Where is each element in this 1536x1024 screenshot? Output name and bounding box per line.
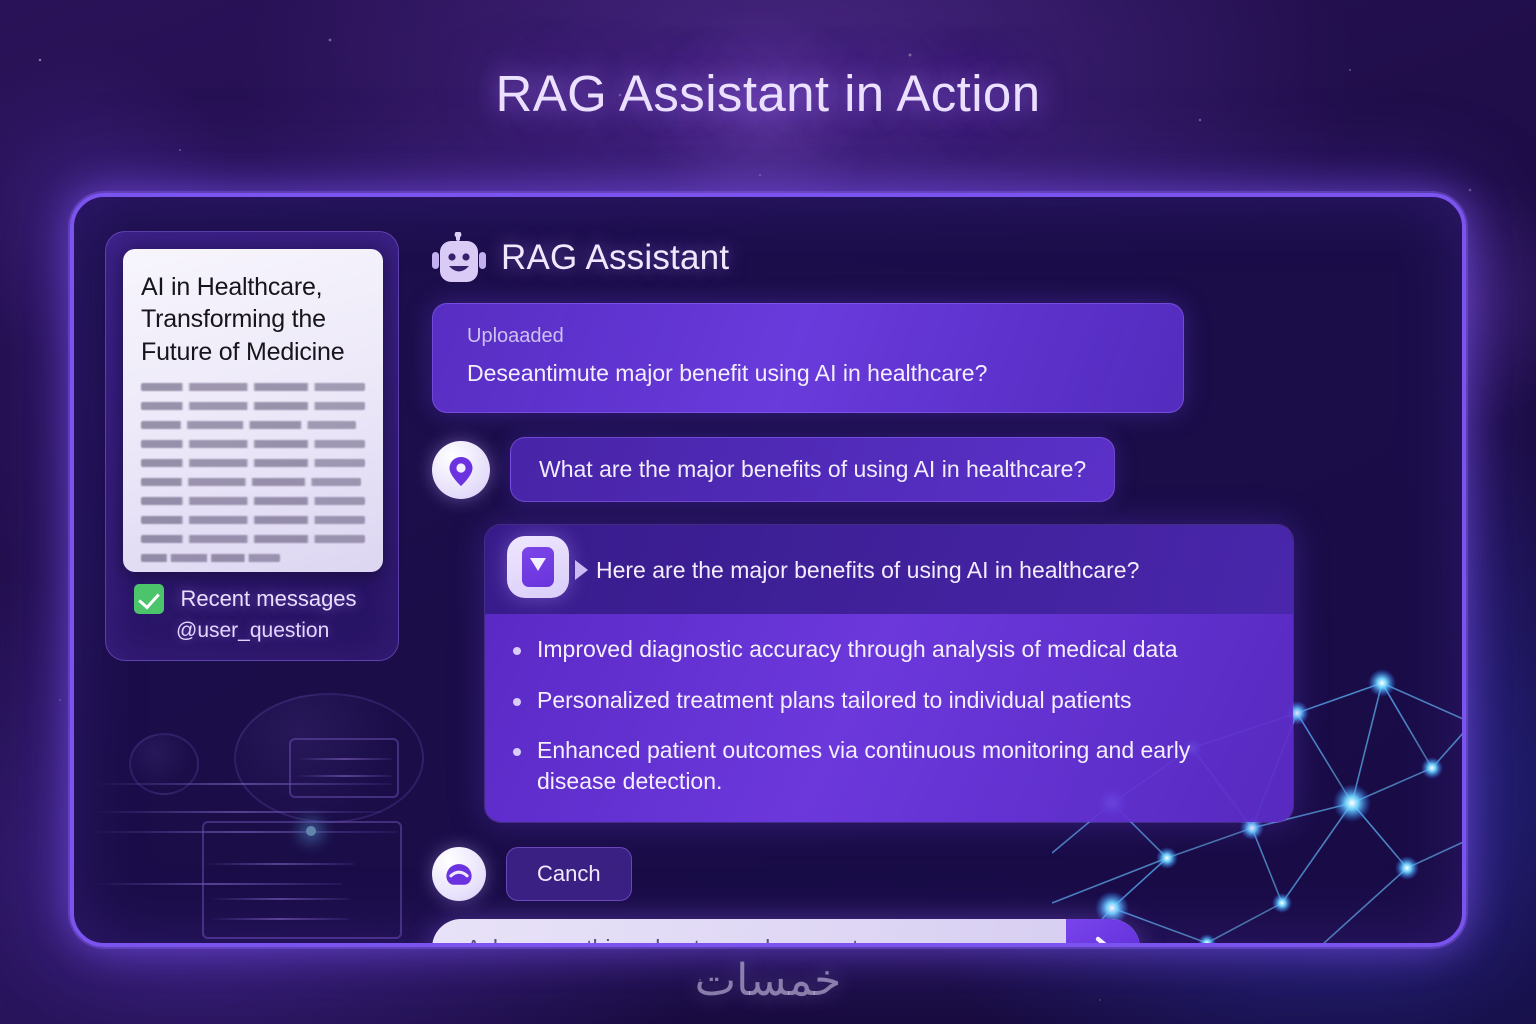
app-window: AI in Healthcare, Transforming the Futur… (70, 193, 1466, 947)
chat-input-bar[interactable] (432, 919, 1140, 947)
assistant-response-header: Here are the major benefits of using AI … (485, 525, 1293, 614)
screenshot-root: RAG Assistant in Action (0, 0, 1536, 1024)
action-row: Canch (432, 847, 1432, 901)
triangle-down-icon (530, 558, 546, 571)
assistant-response-body: Improved diagnostic accuracy through ana… (485, 614, 1293, 822)
triangle-right-icon (575, 560, 588, 580)
assistant-title: RAG Assistant (501, 238, 729, 278)
assistant-response-headline: Here are the major benefits of using AI … (596, 557, 1139, 584)
uploaded-question: Deseantimute major benefit using AI in h… (467, 360, 1149, 387)
assistant-avatar-icon (432, 847, 486, 901)
bullet-text: Personalized treatment plans tailored to… (537, 685, 1132, 716)
send-button[interactable] (1066, 919, 1140, 947)
document-sidebar: AI in Healthcare, Transforming the Futur… (105, 231, 399, 661)
chevron-right-icon (1088, 933, 1118, 947)
document-title: AI in Healthcare, Transforming the Futur… (141, 271, 365, 368)
bullet-icon (513, 647, 521, 655)
robot-icon (432, 232, 486, 284)
assistant-header: RAG Assistant (432, 227, 1432, 289)
recent-messages-status: Recent messages @user_question (134, 584, 382, 643)
document-body-placeholder (141, 383, 365, 562)
cancel-button[interactable]: Canch (506, 847, 632, 901)
bullet-icon (513, 698, 521, 706)
search-input[interactable] (466, 935, 1066, 947)
page-title: RAG Assistant in Action (0, 64, 1536, 123)
status-label: Recent messages (180, 586, 356, 612)
status-handle: @user_question (176, 619, 382, 643)
bullet-icon (513, 748, 521, 756)
list-item: Enhanced patient outcomes via continuous… (513, 735, 1265, 796)
bullet-text: Enhanced patient outcomes via continuous… (537, 735, 1237, 796)
uploaded-banner: Uploaaded Deseantimute major benefit usi… (432, 303, 1184, 413)
user-message-row: What are the major benefits of using AI … (432, 437, 1432, 502)
user-message-bubble: What are the major benefits of using AI … (510, 437, 1115, 502)
list-item: Personalized treatment plans tailored to… (513, 685, 1265, 716)
watermark: خمسات (0, 955, 1536, 1006)
bullet-text: Improved diagnostic accuracy through ana… (537, 634, 1178, 665)
document-preview-card[interactable]: AI in Healthcare, Transforming the Futur… (123, 249, 383, 572)
assistant-response-card: Here are the major benefits of using AI … (484, 524, 1294, 823)
chat-column: RAG Assistant Uploaaded Deseantimute maj… (432, 227, 1432, 947)
bot-badge-icon (507, 536, 569, 598)
list-item: Improved diagnostic accuracy through ana… (513, 634, 1265, 665)
check-icon (134, 584, 164, 614)
user-pin-icon (432, 441, 490, 499)
uploaded-label: Uploaaded (467, 325, 1149, 348)
